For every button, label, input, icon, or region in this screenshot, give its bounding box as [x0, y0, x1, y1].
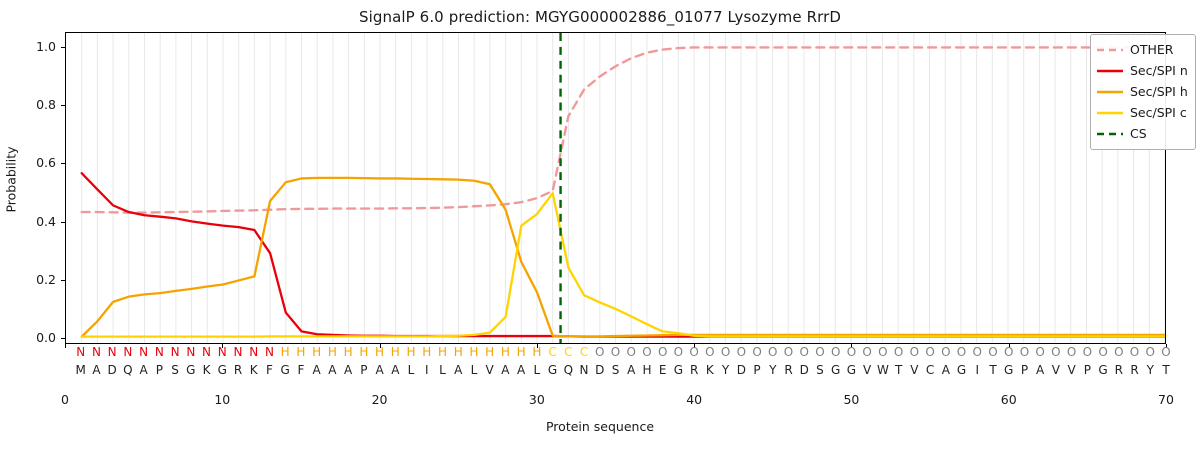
x-tick-label: 0	[45, 392, 85, 407]
legend-line-icon	[1097, 44, 1123, 56]
legend-item-sec-spi-h[interactable]: Sec/SPI h	[1097, 81, 1188, 102]
x-tick-label: 10	[202, 392, 242, 407]
y-tick-label: 0.4	[16, 214, 56, 229]
region-annotation-row: NNNNNNNNNNNNNHHHHHHHHHHHHHHHHHCCCOOOOOOO…	[0, 345, 1200, 361]
protein-sequence-row: MADQAPSGKGRKFGFAAAPAALILALVAALGQNDSAHEGR…	[0, 363, 1200, 379]
cleavage-site-line	[66, 33, 1165, 343]
y-tick-label: 1.0	[16, 39, 56, 54]
legend-label: Sec/SPI h	[1130, 84, 1188, 99]
legend-line-icon	[1097, 65, 1123, 77]
y-tick-label: 0.0	[16, 330, 56, 345]
x-tick-label: 40	[674, 392, 714, 407]
legend-label: Sec/SPI c	[1130, 105, 1187, 120]
region-letter: O	[1157, 345, 1175, 359]
legend-line-icon	[1097, 107, 1123, 119]
legend-label: OTHER	[1130, 42, 1173, 57]
y-tick-label: 0.6	[16, 155, 56, 170]
sequence-letter: T	[1157, 363, 1175, 377]
legend-label: CS	[1130, 126, 1147, 141]
x-tick-label: 50	[831, 392, 871, 407]
x-tick-label: 20	[360, 392, 400, 407]
y-tick-label: 0.8	[16, 97, 56, 112]
x-axis-label: Protein sequence	[0, 419, 1200, 434]
x-tick-label: 60	[989, 392, 1029, 407]
legend[interactable]: OTHERSec/SPI nSec/SPI hSec/SPI cCS	[1090, 34, 1196, 150]
x-tick-label: 30	[517, 392, 557, 407]
legend-item-other[interactable]: OTHER	[1097, 39, 1188, 60]
plot-area	[65, 32, 1166, 344]
legend-line-icon	[1097, 128, 1123, 140]
legend-item-sec-spi-n[interactable]: Sec/SPI n	[1097, 60, 1188, 81]
chart-title: SignalP 6.0 prediction: MGYG000002886_01…	[0, 8, 1200, 26]
y-tick-label: 0.2	[16, 272, 56, 287]
legend-item-sec-spi-c[interactable]: Sec/SPI c	[1097, 102, 1188, 123]
legend-label: Sec/SPI n	[1130, 63, 1188, 78]
x-tick-label: 70	[1146, 392, 1186, 407]
legend-item-cs[interactable]: CS	[1097, 123, 1188, 144]
signalp-prediction-figure: SignalP 6.0 prediction: MGYG000002886_01…	[0, 0, 1200, 450]
legend-line-icon	[1097, 86, 1123, 98]
